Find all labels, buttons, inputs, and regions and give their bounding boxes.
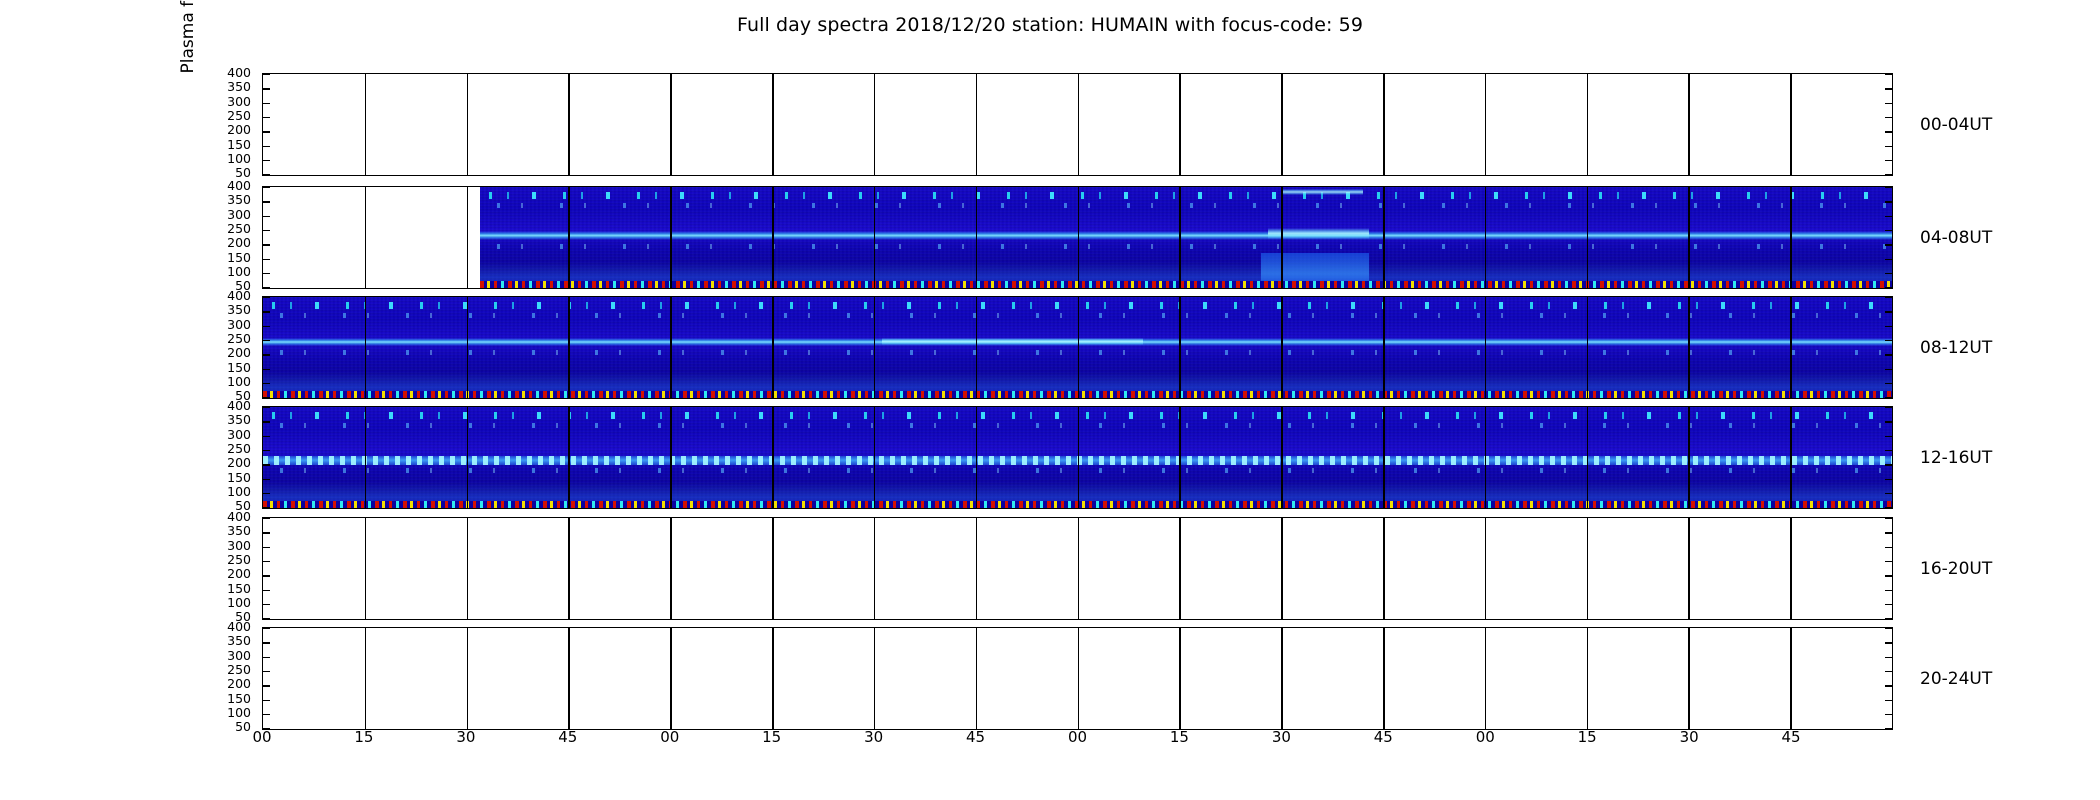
y-tick-label-350: 350: [205, 635, 251, 648]
y-tick-100: [263, 383, 270, 384]
x-gridline-30-14: [1688, 187, 1690, 288]
x-gridline-15-1: [365, 518, 367, 619]
y-tick-label-250: 250: [205, 554, 251, 567]
y-tick-label-100: 100: [205, 597, 251, 610]
y-tick-right-350: [1885, 88, 1892, 89]
x-gridline-45-11: [1383, 187, 1385, 288]
x-gridline-45-15: [1790, 628, 1792, 729]
y-tick-label-200: 200: [205, 568, 251, 581]
y-tick-label-100: 100: [205, 376, 251, 389]
y-tick-label-300: 300: [205, 319, 251, 332]
y-tick-350: [263, 532, 270, 533]
x-gridline-30-10: [1281, 628, 1283, 729]
x-gridline-00-12: [1485, 518, 1487, 619]
y-tick-right-300: [1885, 326, 1892, 327]
y-tick-300: [263, 103, 270, 104]
y-tick-right-300: [1885, 216, 1892, 217]
y-tick-right-400: [1885, 74, 1892, 75]
y-tick-200: [263, 354, 270, 355]
y-tick-50: [263, 397, 270, 398]
y-tick-label-100: 100: [205, 153, 251, 166]
no-data-region: [263, 187, 480, 288]
y-tick-150: [263, 146, 270, 147]
y-tick-right-400: [1885, 297, 1892, 298]
y-tick-label-250: 250: [205, 223, 251, 236]
y-tick-50: [263, 618, 270, 619]
y-tick-label-400: 400: [205, 180, 251, 193]
spectrogram-panel-04-08UT: [262, 186, 1893, 289]
y-tick-label-150: 150: [205, 139, 251, 152]
x-gridline-45-15: [1790, 518, 1792, 619]
y-tick-right-250: [1885, 561, 1892, 562]
y-tick-right-200: [1885, 464, 1892, 465]
y-tick-right-50: [1885, 397, 1892, 398]
y-tick-label-150: 150: [205, 362, 251, 375]
y-tick-right-50: [1885, 287, 1892, 288]
x-gridline-00-4: [670, 628, 672, 729]
x-gridline-30-6: [874, 74, 876, 175]
x-gridline-00-8: [1078, 297, 1080, 398]
y-tick-150: [263, 479, 270, 480]
x-gridline-00-12: [1485, 407, 1487, 508]
x-tick-label-9: 15: [1170, 728, 1189, 746]
x-gridline-45-7: [976, 187, 978, 288]
y-tick-right-200: [1885, 131, 1892, 132]
y-tick-300: [263, 436, 270, 437]
y-tick-250: [263, 671, 270, 672]
y-tick-label-150: 150: [205, 583, 251, 596]
x-gridline-00-4: [670, 187, 672, 288]
y-tick-50: [263, 174, 270, 175]
y-tick-right-350: [1885, 311, 1892, 312]
x-gridline-00-4: [670, 518, 672, 619]
y-tick-250: [263, 340, 270, 341]
x-gridline-45-15: [1790, 187, 1792, 288]
x-gridline-15-9: [1179, 297, 1181, 398]
y-tick-label-100: 100: [205, 486, 251, 499]
y-tick-right-100: [1885, 604, 1892, 605]
y-tick-label-200: 200: [205, 457, 251, 470]
y-tick-right-150: [1885, 700, 1892, 701]
y-tick-100: [263, 273, 270, 274]
x-gridline-15-13: [1587, 518, 1589, 619]
y-tick-label-300: 300: [205, 429, 251, 442]
x-tick-label-6: 30: [864, 728, 883, 746]
row-label-04-08UT: 04-08UT: [1920, 228, 1992, 248]
x-gridline-15-5: [772, 297, 774, 398]
x-tick-label-15: 45: [1782, 728, 1801, 746]
x-gridline-30-10: [1281, 407, 1283, 508]
y-tick-300: [263, 326, 270, 327]
row-label-16-20UT: 16-20UT: [1920, 559, 1992, 579]
y-tick-100: [263, 714, 270, 715]
x-gridline-45-3: [568, 628, 570, 729]
y-tick-label-250: 250: [205, 664, 251, 677]
y-tick-right-250: [1885, 230, 1892, 231]
y-tick-label-250: 250: [205, 110, 251, 123]
x-gridline-15-13: [1587, 628, 1589, 729]
y-tick-right-50: [1885, 618, 1892, 619]
x-gridline-15-1: [365, 187, 367, 288]
y-tick-label-400: 400: [205, 290, 251, 303]
y-tick-350: [263, 311, 270, 312]
y-tick-400: [263, 628, 270, 629]
y-tick-100: [263, 160, 270, 161]
x-gridline-15-9: [1179, 628, 1181, 729]
y-tick-right-250: [1885, 450, 1892, 451]
y-tick-label-350: 350: [205, 81, 251, 94]
y-tick-label-400: 400: [205, 621, 251, 634]
x-gridline-30-10: [1281, 518, 1283, 619]
y-tick-right-400: [1885, 187, 1892, 188]
x-gridline-00-8: [1078, 187, 1080, 288]
y-tick-label-300: 300: [205, 209, 251, 222]
x-gridline-30-14: [1688, 407, 1690, 508]
x-gridline-45-15: [1790, 407, 1792, 508]
x-gridline-30-10: [1281, 297, 1283, 398]
x-gridline-15-9: [1179, 74, 1181, 175]
x-tick-label-4: 00: [660, 728, 679, 746]
y-tick-right-350: [1885, 532, 1892, 533]
y-tick-label-350: 350: [205, 194, 251, 207]
y-tick-150: [263, 259, 270, 260]
y-tick-label-100: 100: [205, 266, 251, 279]
x-gridline-15-13: [1587, 187, 1589, 288]
y-tick-right-100: [1885, 160, 1892, 161]
x-gridline-30-6: [874, 187, 876, 288]
y-tick-right-50: [1885, 507, 1892, 508]
spectrogram-figure: Full day spectra 2018/12/20 station: HUM…: [0, 0, 2100, 800]
emission-band: [480, 231, 1892, 239]
x-gridline-15-1: [365, 628, 367, 729]
y-tick-200: [263, 575, 270, 576]
x-gridline-30-14: [1688, 518, 1690, 619]
y-tick-350: [263, 201, 270, 202]
y-tick-150: [263, 369, 270, 370]
y-tick-300: [263, 657, 270, 658]
x-tick-label-12: 00: [1476, 728, 1495, 746]
spectrogram-panel-12-16UT: [262, 406, 1893, 509]
x-tick-label-2: 30: [456, 728, 475, 746]
y-tick-right-100: [1885, 383, 1892, 384]
y-tick-400: [263, 74, 270, 75]
y-tick-label-250: 250: [205, 333, 251, 346]
x-gridline-00-12: [1485, 628, 1487, 729]
y-tick-right-300: [1885, 547, 1892, 548]
y-tick-label-200: 200: [205, 678, 251, 691]
y-tick-350: [263, 421, 270, 422]
x-gridline-15-5: [772, 518, 774, 619]
y-tick-label-350: 350: [205, 414, 251, 427]
y-tick-label-150: 150: [205, 472, 251, 485]
y-tick-right-350: [1885, 201, 1892, 202]
y-tick-right-150: [1885, 590, 1892, 591]
y-tick-right-250: [1885, 117, 1892, 118]
y-tick-label-350: 350: [205, 304, 251, 317]
y-tick-150: [263, 590, 270, 591]
y-tick-label-400: 400: [205, 400, 251, 413]
y-tick-right-400: [1885, 407, 1892, 408]
x-gridline-00-4: [670, 407, 672, 508]
x-gridline-15-13: [1587, 407, 1589, 508]
x-gridline-45-11: [1383, 518, 1385, 619]
interference-speckle-row-secondary: [480, 203, 1892, 208]
y-tick-label-200: 200: [205, 347, 251, 360]
y-tick-right-200: [1885, 244, 1892, 245]
x-gridline-45-3: [568, 74, 570, 175]
row-label-12-16UT: 12-16UT: [1920, 448, 1992, 468]
x-tick-label-14: 30: [1680, 728, 1699, 746]
x-gridline-30-2: [467, 297, 469, 398]
x-gridline-30-6: [874, 297, 876, 398]
y-tick-250: [263, 117, 270, 118]
spectrogram-panel-16-20UT: [262, 517, 1893, 620]
y-tick-label-150: 150: [205, 693, 251, 706]
x-tick-label-8: 00: [1068, 728, 1087, 746]
y-tick-400: [263, 187, 270, 188]
x-gridline-30-6: [874, 628, 876, 729]
y-tick-label-300: 300: [205, 650, 251, 663]
y-tick-right-200: [1885, 575, 1892, 576]
x-tick-label-5: 15: [762, 728, 781, 746]
y-tick-label-200: 200: [205, 124, 251, 137]
x-gridline-30-10: [1281, 187, 1283, 288]
y-tick-200: [263, 244, 270, 245]
interference-speckle-row: [480, 192, 1892, 199]
x-gridline-45-3: [568, 407, 570, 508]
radio-burst-patch-high: [1281, 189, 1362, 195]
x-gridline-45-3: [568, 518, 570, 619]
x-gridline-30-6: [874, 518, 876, 619]
x-gridline-30-14: [1688, 297, 1690, 398]
x-gridline-45-3: [568, 297, 570, 398]
y-tick-label-300: 300: [205, 96, 251, 109]
x-tick-label-3: 45: [558, 728, 577, 746]
y-tick-label-350: 350: [205, 525, 251, 538]
x-gridline-15-13: [1587, 297, 1589, 398]
y-tick-right-350: [1885, 421, 1892, 422]
x-gridline-45-11: [1383, 407, 1385, 508]
x-gridline-15-1: [365, 407, 367, 508]
y-tick-right-100: [1885, 714, 1892, 715]
x-gridline-15-1: [365, 74, 367, 175]
y-tick-right-300: [1885, 103, 1892, 104]
row-label-20-24UT: 20-24UT: [1920, 669, 1992, 689]
y-tick-100: [263, 604, 270, 605]
x-gridline-45-7: [976, 518, 978, 619]
y-tick-right-250: [1885, 340, 1892, 341]
emission-band-substructure: [480, 244, 1892, 249]
y-tick-right-300: [1885, 657, 1892, 658]
x-gridline-30-2: [467, 407, 469, 508]
x-tick-label-10: 30: [1272, 728, 1291, 746]
x-gridline-45-7: [976, 297, 978, 398]
y-tick-300: [263, 547, 270, 548]
y-tick-400: [263, 297, 270, 298]
y-tick-400: [263, 518, 270, 519]
row-label-00-04UT: 00-04UT: [1920, 115, 1992, 135]
y-tick-right-100: [1885, 273, 1892, 274]
y-tick-right-200: [1885, 685, 1892, 686]
x-gridline-30-10: [1281, 74, 1283, 175]
y-tick-right-400: [1885, 628, 1892, 629]
x-gridline-45-11: [1383, 297, 1385, 398]
y-tick-right-300: [1885, 436, 1892, 437]
x-gridline-30-14: [1688, 74, 1690, 175]
y-tick-150: [263, 700, 270, 701]
y-tick-right-250: [1885, 671, 1892, 672]
y-tick-200: [263, 685, 270, 686]
x-gridline-15-9: [1179, 518, 1181, 619]
x-gridline-45-11: [1383, 74, 1385, 175]
x-gridline-15-1: [365, 297, 367, 398]
x-tick-label-11: 45: [1374, 728, 1393, 746]
x-gridline-15-9: [1179, 407, 1181, 508]
x-gridline-00-8: [1078, 518, 1080, 619]
x-tick-label-1: 15: [354, 728, 373, 746]
spectrogram-panel-08-12UT: [262, 296, 1893, 399]
radio-burst-patch: [1268, 228, 1370, 239]
row-label-08-12UT: 08-12UT: [1920, 338, 1992, 358]
x-gridline-15-9: [1179, 187, 1181, 288]
spectrogram-panel-20-24UT: [262, 627, 1893, 730]
x-tick-label-13: 15: [1578, 728, 1597, 746]
y-tick-100: [263, 493, 270, 494]
y-tick-label-250: 250: [205, 443, 251, 456]
y-tick-right-200: [1885, 354, 1892, 355]
x-gridline-45-15: [1790, 74, 1792, 175]
radio-burst-patch: [882, 338, 1143, 345]
y-tick-200: [263, 131, 270, 132]
y-tick-300: [263, 216, 270, 217]
y-tick-50: [263, 287, 270, 288]
y-tick-label-200: 200: [205, 237, 251, 250]
y-tick-350: [263, 88, 270, 89]
y-tick-200: [263, 464, 270, 465]
y-tick-right-150: [1885, 259, 1892, 260]
y-tick-right-100: [1885, 493, 1892, 494]
x-gridline-30-6: [874, 407, 876, 508]
y-tick-350: [263, 642, 270, 643]
x-gridline-45-11: [1383, 628, 1385, 729]
x-gridline-30-2: [467, 187, 469, 288]
x-gridline-00-8: [1078, 74, 1080, 175]
y-tick-right-350: [1885, 642, 1892, 643]
x-gridline-00-4: [670, 297, 672, 398]
x-gridline-30-2: [467, 74, 469, 175]
x-gridline-45-3: [568, 187, 570, 288]
y-tick-label-400: 400: [205, 511, 251, 524]
y-tick-label-50: 50: [205, 721, 251, 734]
y-tick-label-300: 300: [205, 540, 251, 553]
x-gridline-15-13: [1587, 74, 1589, 175]
y-tick-right-50: [1885, 174, 1892, 175]
y-axis-title-text: Plasma frequency [MHz]: [178, 0, 198, 180]
y-tick-right-400: [1885, 518, 1892, 519]
x-gridline-45-15: [1790, 297, 1792, 398]
x-gridline-45-7: [976, 628, 978, 729]
x-gridline-00-8: [1078, 407, 1080, 508]
spectrogram-panel-00-04UT: [262, 73, 1893, 176]
x-gridline-00-4: [670, 74, 672, 175]
x-gridline-00-12: [1485, 297, 1487, 398]
y-axis-title: Plasma frequency [MHz]: [178, 0, 198, 180]
x-gridline-15-5: [772, 628, 774, 729]
y-tick-250: [263, 561, 270, 562]
y-tick-right-150: [1885, 479, 1892, 480]
x-gridline-00-8: [1078, 628, 1080, 729]
x-gridline-30-2: [467, 628, 469, 729]
x-gridline-30-14: [1688, 628, 1690, 729]
y-tick-right-150: [1885, 369, 1892, 370]
y-tick-50: [263, 507, 270, 508]
y-tick-label-400: 400: [205, 67, 251, 80]
x-gridline-15-5: [772, 74, 774, 175]
x-tick-label-7: 45: [966, 728, 985, 746]
y-tick-label-150: 150: [205, 252, 251, 265]
y-tick-400: [263, 407, 270, 408]
y-tick-right-50: [1885, 728, 1892, 729]
y-tick-label-100: 100: [205, 707, 251, 720]
y-tick-250: [263, 230, 270, 231]
x-gridline-15-5: [772, 187, 774, 288]
x-gridline-00-12: [1485, 187, 1487, 288]
y-tick-right-150: [1885, 146, 1892, 147]
x-tick-label-0: 00: [252, 728, 271, 746]
x-gridline-15-5: [772, 407, 774, 508]
x-gridline-45-7: [976, 74, 978, 175]
y-tick-250: [263, 450, 270, 451]
spectrum-data-area: [480, 187, 1892, 288]
calibration-strip: [480, 281, 1892, 288]
page-title: Full day spectra 2018/12/20 station: HUM…: [0, 14, 2100, 36]
x-gridline-45-7: [976, 407, 978, 508]
x-gridline-00-12: [1485, 74, 1487, 175]
x-gridline-30-2: [467, 518, 469, 619]
